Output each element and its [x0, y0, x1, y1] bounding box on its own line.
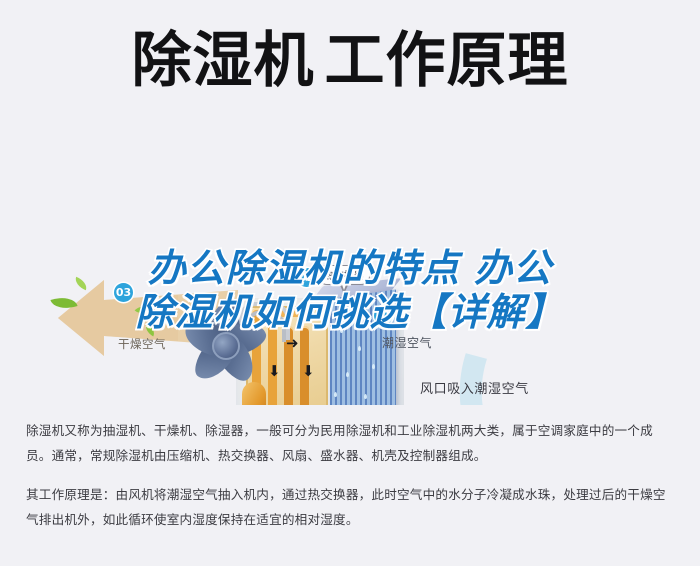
water-droplet-icon: [372, 364, 375, 369]
body-paragraph-1: 除湿机又称为抽湿机、干燥机、除湿器，一般可分为民用除湿机和工业除湿机两大类，属于…: [26, 418, 676, 468]
article-body: 除湿机又称为抽湿机、干燥机、除湿器，一般可分为民用除湿机和工业除湿机两大类，属于…: [26, 418, 676, 532]
page-title: 除湿机工作原理: [0, 24, 700, 98]
badge-step-1: 01: [374, 306, 393, 325]
badge-step-3-left: 03: [114, 283, 133, 302]
flow-arrow-down-icon: ⬇: [302, 364, 315, 379]
badge-step-2: 02: [297, 268, 316, 287]
water-droplet-icon: [364, 394, 367, 399]
water-droplet-icon: [340, 328, 343, 333]
dehumidifier-diagram: ➜ ⬇ ⬇ 水箱 热交换器 03 02 01 0: [0, 120, 700, 405]
humid-air-label: 潮湿空气: [382, 334, 432, 351]
water-droplet-icon: [334, 392, 337, 397]
body-paragraph-2: 其工作原理是：由风机将潮湿空气抽入机内，通过热交换器，此时空气中的水分子冷凝成水…: [26, 482, 676, 532]
callout-pointer-icon: [339, 283, 349, 294]
flow-arrow-right-icon: ➜: [286, 336, 299, 351]
water-droplet-icon: [358, 346, 361, 351]
title-part-subject: 工作原理: [325, 26, 569, 96]
step-1-caption: 风口吸入潮湿空气: [420, 378, 529, 397]
title-part-product: 除湿机: [132, 26, 315, 96]
water-droplet-icon: [346, 372, 349, 377]
fan-icon: [176, 296, 272, 392]
fan-hub: [212, 332, 240, 360]
dry-air-label: 干燥空气: [118, 336, 166, 352]
infographic-page: 除湿机工作原理 ➜ ⬇ ⬇: [0, 0, 700, 566]
